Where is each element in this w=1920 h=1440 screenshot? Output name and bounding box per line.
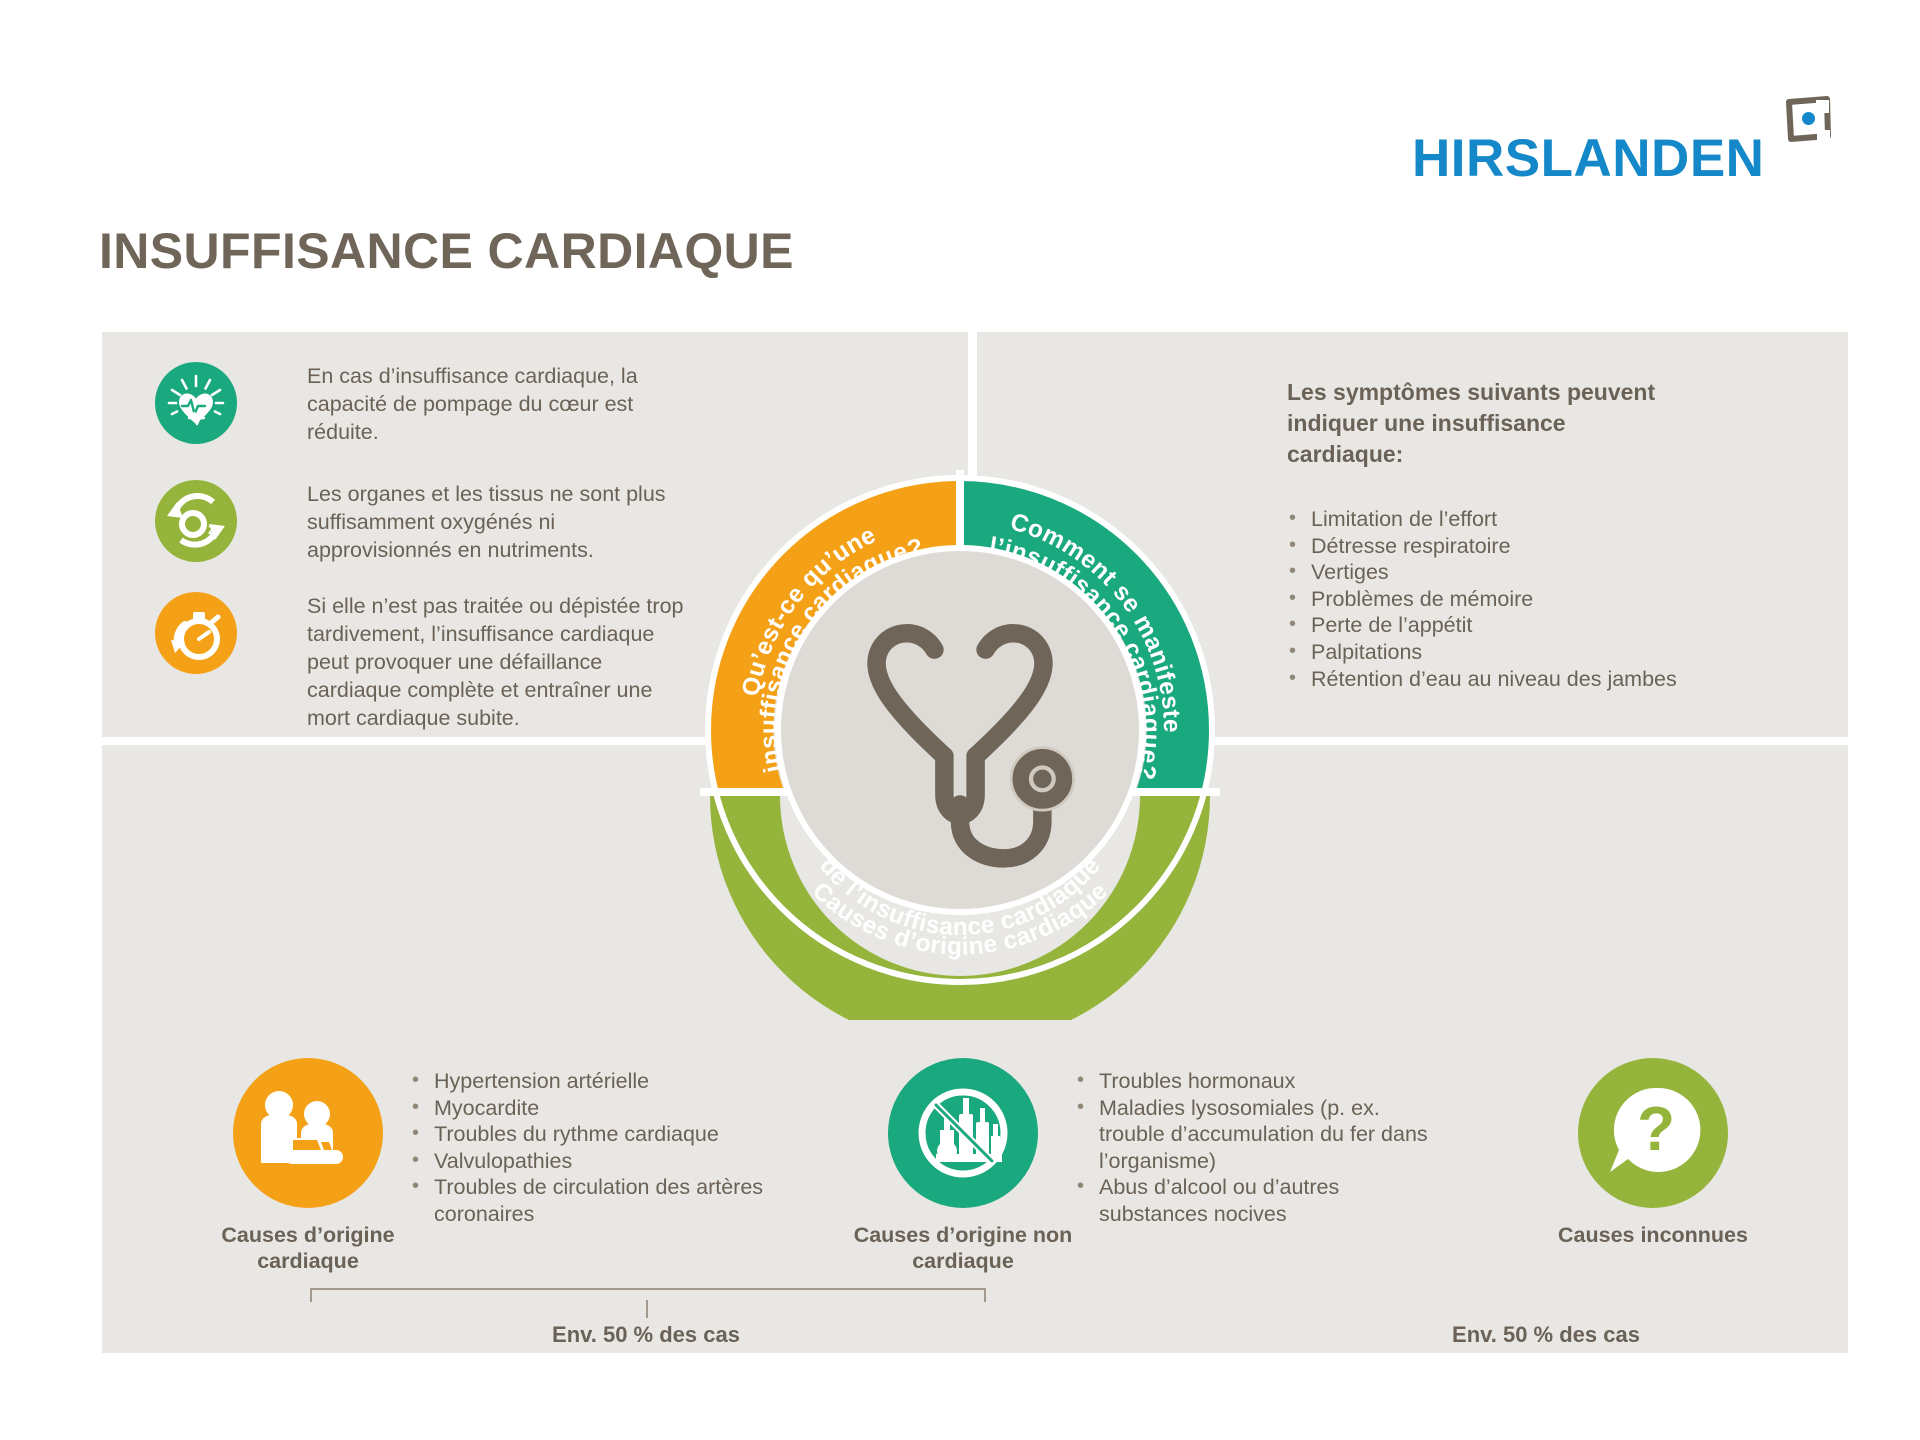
cause-group-label: Causes inconnues	[1523, 1222, 1783, 1248]
heart-pulse-icon	[155, 362, 237, 444]
list-item: Rétention d’eau au niveau des jambes	[1287, 666, 1807, 693]
question-speech-bubble-icon: ?	[1578, 1058, 1728, 1208]
caption-unknown-causes: Env. 50 % des cas	[1366, 1322, 1726, 1348]
caption-known-causes: Env. 50 % des cas	[466, 1322, 826, 1348]
intro-item-text: En cas d’insuffisance cardiaque, la capa…	[307, 362, 687, 446]
list-item: Troubles hormonaux	[1075, 1068, 1435, 1095]
intro-item-text: Les organes et les tissus ne sont plus s…	[307, 480, 687, 564]
page-title: INSUFFISANCE CARDIAQUE	[99, 222, 794, 280]
symptoms-title: Les symptômes suivants peuvent indiquer …	[1287, 377, 1687, 470]
svg-text:?: ?	[1637, 1095, 1675, 1164]
brand-logo: HIRSLANDEN	[1412, 96, 1832, 206]
square-frame-dot-icon	[1785, 96, 1831, 142]
list-item: Troubles du rythme cardiaque	[410, 1121, 790, 1148]
cause-list-cardiac: Hypertension artérielle Myocardite Troub…	[410, 1068, 790, 1228]
cause-group-label: Causes d’origine cardiaque	[178, 1222, 438, 1274]
intro-item-stopwatch: Si elle n’est pas traitée ou dépistée tr…	[155, 592, 687, 732]
list-item: Myocardite	[410, 1095, 790, 1122]
intro-item-text: Si elle n’est pas traitée ou dépistée tr…	[307, 592, 687, 732]
symptoms-list: Limitation de l’effort Détresse respirat…	[1287, 506, 1807, 692]
cause-group-label: Causes d’origine non cardiaque	[833, 1222, 1093, 1274]
brand-wordmark: HIRSLANDEN	[1412, 128, 1764, 189]
list-item: Valvulopathies	[410, 1148, 790, 1175]
cause-list-non-cardiac: Troubles hormonaux Maladies lysosomiales…	[1075, 1068, 1435, 1228]
list-item: Troubles de circulation des artères coro…	[410, 1174, 790, 1227]
intro-item-oxygen: 2 Les organes et les tissus ne sont plus…	[155, 480, 687, 564]
list-item: Problèmes de mémoire	[1287, 586, 1807, 613]
oxygen-cycle-icon: 2	[155, 480, 237, 562]
list-item: Palpitations	[1287, 639, 1807, 666]
list-item: Perte de l’appétit	[1287, 612, 1807, 639]
no-alcohol-bottles-icon	[888, 1058, 1038, 1208]
stopwatch-icon	[155, 592, 237, 674]
list-item: Vertiges	[1287, 559, 1807, 586]
bracket-known-causes	[310, 1288, 986, 1302]
donut-diagram: Qu’est-ce qu’une insuffisance cardiaque?…	[670, 440, 1250, 1020]
list-item: Détresse respiratoire	[1287, 533, 1807, 560]
intro-item-heart: En cas d’insuffisance cardiaque, la capa…	[155, 362, 687, 446]
list-item: Maladies lysosomiales (p. ex. trouble d’…	[1075, 1095, 1435, 1175]
list-item: Hypertension artérielle	[410, 1068, 790, 1095]
list-item: Abus d’alcool ou d’autres substances noc…	[1075, 1174, 1435, 1227]
svg-text:2: 2	[208, 521, 216, 537]
doctor-patient-examination-icon	[233, 1058, 383, 1208]
list-item: Limitation de l’effort	[1287, 506, 1807, 533]
bracket-stem	[646, 1300, 648, 1318]
